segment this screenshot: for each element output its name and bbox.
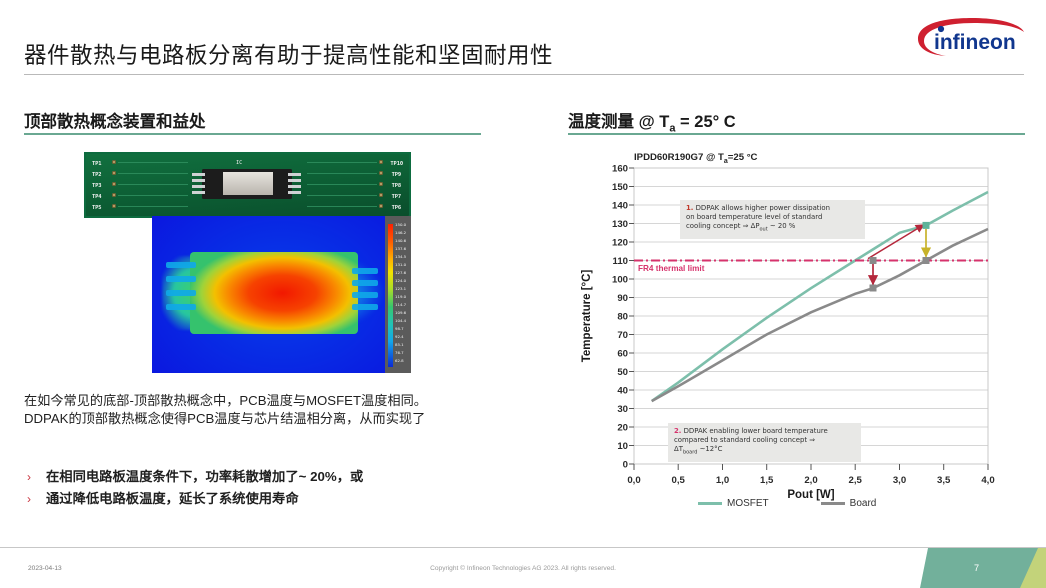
thermal-scale-tick: 85.1	[395, 343, 404, 347]
infineon-logo: infineon	[912, 16, 1030, 60]
thermal-scale-tick: 123.1	[395, 287, 406, 291]
fr4-thermal-limit-label: FR4 thermal limit	[638, 264, 704, 273]
svg-text:0: 0	[623, 460, 628, 471]
pcb-lead	[192, 173, 205, 176]
body-paragraph-1: 在如今常见的底部-顶部散热概念中，PCB温度与MOSFET温度相同。	[24, 392, 484, 410]
svg-text:infineon: infineon	[934, 31, 1016, 54]
legend-item-board: Board	[821, 498, 877, 509]
pcb-lead	[192, 185, 205, 188]
benefit-bullet-list: › 在相同电路板温度条件下，功率耗散增加了~ 20%，或 › 通过降低电路板温度…	[24, 466, 494, 510]
pcb-pad	[112, 171, 116, 175]
pcb-trace	[118, 195, 188, 196]
pcb-testpoint-label: TP9	[392, 172, 401, 178]
pcb-testpoint-label: TP5	[92, 205, 101, 211]
svg-text:140: 140	[612, 201, 628, 212]
left-body-text: 在如今常见的底部-顶部散热概念中，PCB温度与MOSFET温度相同。 DDPAK…	[24, 392, 484, 427]
thermal-scale-tick: 109.6	[395, 311, 406, 315]
pcb-trace	[118, 162, 188, 163]
pcb-pad	[379, 204, 383, 208]
pcb-trace	[118, 184, 188, 185]
pcb-trace	[307, 206, 377, 207]
pcb-lead	[288, 179, 301, 182]
thermal-camera-image: 150.0 146.2 140.6 137.6 134.5 131.0 127.…	[152, 216, 411, 373]
chart-annotation-1: 1. DDPAK allows higher power dissipation…	[680, 200, 865, 239]
thermal-scale-tick: 137.6	[395, 247, 406, 251]
thermal-pin	[166, 276, 196, 282]
pcb-testpoint-label: TP7	[392, 194, 401, 200]
legend-label-board: Board	[850, 498, 877, 509]
svg-text:70: 70	[617, 330, 628, 341]
legend-label-mosfet: MOSFET	[727, 498, 769, 509]
footer-divider	[0, 547, 1046, 548]
thermal-pin	[352, 292, 378, 298]
annotation-line-3-pre: ΔT	[674, 445, 683, 453]
thermal-scale-tick: 92.4	[395, 335, 404, 339]
pcb-ic-thermal-pad	[223, 172, 273, 195]
pcb-ic-label: IC	[236, 160, 242, 166]
pcb-pad	[379, 182, 383, 186]
pcb-pad	[379, 160, 383, 164]
svg-text:1,0: 1,0	[716, 475, 729, 486]
svg-text:2,5: 2,5	[849, 475, 863, 486]
bullet-marker-icon: ›	[24, 488, 46, 510]
thermal-scale-tick: 146.2	[395, 231, 406, 235]
thermal-scale-tick: 76.7	[395, 351, 404, 355]
pcb-lead	[288, 185, 301, 188]
slide: infineon 器件散热与电路板分离有助于提高性能和坚固耐用性 顶部散热概念装…	[0, 0, 1046, 588]
list-item-label: 在相同电路板温度条件下，功率耗散增加了~ 20%，或	[46, 466, 363, 488]
svg-text:10: 10	[617, 441, 628, 452]
pcb-pad	[379, 193, 383, 197]
pcb-testpoint-label: TP10	[390, 161, 403, 167]
pcb-trace	[307, 184, 377, 185]
thermal-scale-tick: 62.8	[395, 359, 404, 363]
svg-text:2,0: 2,0	[804, 475, 817, 486]
thermal-pin	[352, 268, 378, 274]
pcb-trace	[118, 173, 188, 174]
page-title: 器件散热与电路板分离有助于提高性能和坚固耐用性	[24, 38, 884, 70]
thermal-color-scale: 150.0 146.2 140.6 137.6 134.5 131.0 127.…	[385, 216, 411, 373]
annotation-line-1: DDPAK allows higher power dissipation	[693, 204, 830, 212]
thermal-scale-tick: 124.0	[395, 279, 406, 283]
chart-annotation-2: 2. DDPAK enabling lower board temperatur…	[668, 423, 861, 462]
body-paragraph-2: DDPAK的顶部散热概念使得PCB温度与芯片结温相分离，从而实现了	[24, 410, 484, 428]
svg-text:160: 160	[612, 164, 628, 175]
pcb-testpoint-label: TP1	[92, 161, 101, 167]
svg-text:90: 90	[617, 293, 628, 304]
svg-text:20: 20	[617, 423, 628, 434]
pcb-pad	[112, 182, 116, 186]
annotation-line-3-pre: cooling concept ⇒ ΔP	[686, 222, 759, 230]
thermal-scale-tick: 134.5	[395, 255, 406, 259]
bullet-marker-icon: ›	[24, 466, 46, 488]
right-section-divider	[568, 133, 1025, 135]
pcb-trace	[307, 162, 377, 163]
svg-text:3,5: 3,5	[937, 475, 951, 486]
svg-text:60: 60	[617, 349, 628, 360]
pcb-photo: IC TP1 TP2 TP3 TP4 TP5 TP10 TP9 TP8 TP7 …	[84, 152, 411, 218]
page-number-badge	[920, 548, 1046, 588]
annotation-line-2: compared to standard cooling concept ⇒	[674, 436, 815, 444]
pcb-trace	[118, 206, 188, 207]
left-section-divider	[24, 133, 481, 135]
svg-text:4,0: 4,0	[981, 475, 994, 486]
pcb-testpoint-label: TP4	[92, 194, 101, 200]
thermal-scale-tick: 114.7	[395, 303, 406, 307]
thermal-scale-tick: 98.7	[395, 327, 404, 331]
svg-text:40: 40	[617, 386, 628, 397]
thermal-scale-tick: 119.0	[395, 295, 406, 299]
thermal-hotspot	[190, 252, 358, 334]
thermal-pin	[166, 262, 196, 268]
thermal-pin	[166, 304, 196, 310]
annotation-line-3-post: ~12°C	[697, 445, 722, 453]
thermal-pin	[352, 280, 378, 286]
thermal-pin	[352, 304, 378, 310]
chart-legend: MOSFET Board	[698, 498, 948, 509]
pcb-pad	[112, 204, 116, 208]
list-item-label: 通过降低电路板温度，延长了系统使用寿命	[46, 488, 299, 510]
annotation-line-3-subscript: out	[759, 227, 767, 233]
svg-text:110: 110	[613, 256, 628, 267]
left-section-header: 顶部散热概念装置和益处	[24, 108, 206, 132]
svg-text:0,0: 0,0	[627, 475, 640, 486]
thermal-scale-tick: 140.6	[395, 239, 406, 243]
thermal-scale-tick: 150.0	[395, 223, 406, 227]
thermal-color-gradient	[388, 224, 393, 367]
thermal-scale-tick: 131.0	[395, 263, 406, 267]
svg-text:Temperature [°C]: Temperature [°C]	[581, 270, 593, 363]
annotation-line-1: DDPAK enabling lower board temperature	[681, 427, 827, 435]
pcb-trace	[307, 195, 377, 196]
pcb-testpoint-label: TP8	[392, 183, 401, 189]
pcb-pad	[379, 171, 383, 175]
right-header-tail: = 25° C	[675, 113, 735, 131]
annotation-line-3-post: ~ 20 %	[768, 222, 796, 230]
right-header-main: 温度测量 @ T	[568, 113, 669, 131]
temperature-vs-power-chart: IPDD60R190G7 @ Ta=25 °C	[568, 146, 1024, 536]
pcb-lead	[192, 191, 205, 194]
pcb-pad	[112, 193, 116, 197]
pcb-testpoint-label: TP3	[92, 183, 101, 189]
pcb-trace	[307, 173, 377, 174]
svg-text:3,0: 3,0	[893, 475, 906, 486]
svg-text:1,5: 1,5	[760, 475, 774, 486]
svg-text:30: 30	[617, 404, 628, 415]
pcb-testpoint-label: TP6	[392, 205, 401, 211]
svg-text:130: 130	[612, 219, 628, 230]
pcb-testpoint-label: TP2	[92, 172, 101, 178]
legend-swatch-mosfet	[698, 502, 722, 504]
pcb-lead	[288, 173, 301, 176]
pcb-pad	[112, 160, 116, 164]
thermal-scale-tick: 127.6	[395, 271, 406, 275]
pcb-lead	[288, 191, 301, 194]
title-divider	[24, 74, 1024, 75]
annotation-line-3-subscript: board	[683, 450, 697, 456]
legend-swatch-board	[821, 502, 845, 504]
svg-text:80: 80	[617, 312, 628, 323]
pcb-lead	[192, 179, 205, 182]
svg-text:100: 100	[612, 275, 628, 286]
list-item: › 通过降低电路板温度，延长了系统使用寿命	[24, 488, 494, 510]
svg-text:150: 150	[612, 182, 628, 193]
legend-item-mosfet: MOSFET	[698, 498, 769, 509]
annotation-line-2: on board temperature level of standard	[686, 213, 822, 221]
svg-text:120: 120	[612, 238, 628, 249]
right-section-header: 温度测量 @ Ta = 25° C	[568, 108, 736, 134]
thermal-scale-tick: 104.4	[395, 319, 406, 323]
footer-copyright: Copyright © Infineon Technologies AG 202…	[0, 565, 1046, 572]
list-item: › 在相同电路板温度条件下，功率耗散增加了~ 20%，或	[24, 466, 494, 488]
page-number: 7	[974, 563, 979, 573]
thermal-pin	[166, 290, 196, 296]
svg-text:50: 50	[617, 367, 628, 378]
svg-text:0,5: 0,5	[672, 475, 686, 486]
